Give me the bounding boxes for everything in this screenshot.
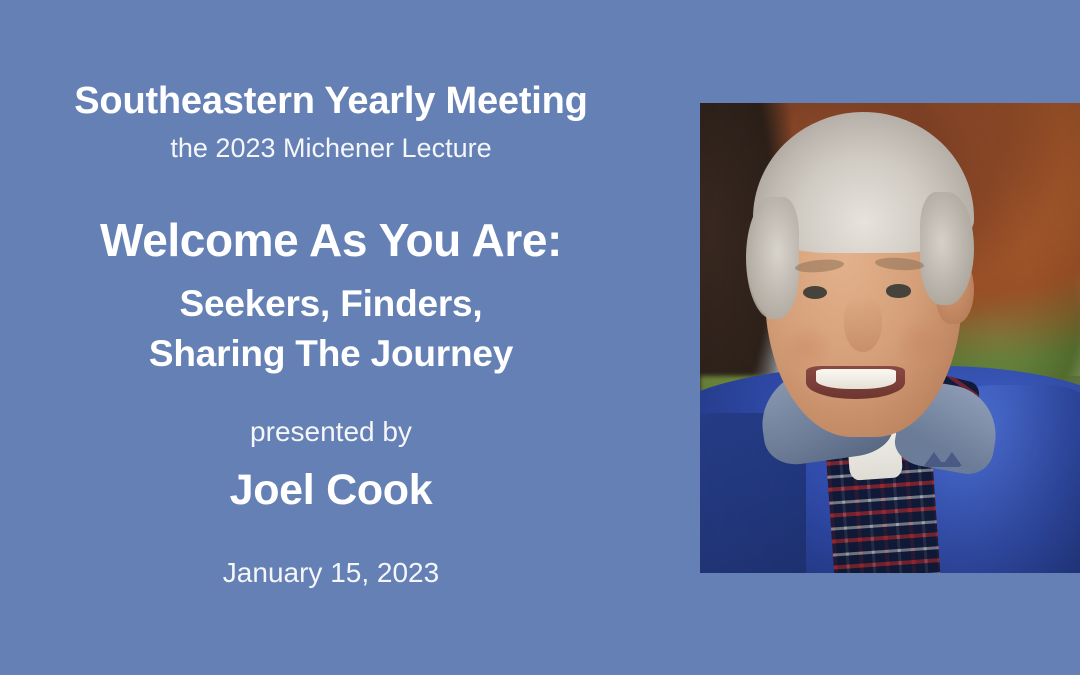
lecture-title-line-3: Sharing The Journey — [0, 329, 700, 379]
presenter-block: presented by Joel Cook — [0, 415, 700, 516]
organization-name: Southeastern Yearly Meeting — [0, 80, 700, 123]
text-column: Southeastern Yearly Meeting the 2023 Mic… — [0, 0, 700, 675]
lecture-title-main: Welcome As You Are: — [0, 213, 700, 267]
presenter-portrait — [700, 103, 1080, 573]
organization-block: Southeastern Yearly Meeting the 2023 Mic… — [0, 80, 700, 164]
date-block: January 15, 2023 — [0, 556, 700, 590]
cheek-right — [894, 319, 947, 366]
organization-subtitle: the 2023 Michener Lecture — [0, 132, 700, 164]
presenter-name: Joel Cook — [0, 465, 700, 517]
cheek-left — [780, 324, 833, 371]
lecture-title-slide: Southeastern Yearly Meeting the 2023 Mic… — [0, 0, 1080, 675]
portrait-canvas — [700, 103, 1080, 573]
eye-right — [886, 284, 911, 297]
lecture-title-block: Welcome As You Are: Seekers, Finders, Sh… — [0, 213, 700, 379]
lecture-date: January 15, 2023 — [0, 556, 700, 590]
lecture-title-line-2: Seekers, Finders, — [0, 279, 700, 329]
person — [700, 103, 1080, 573]
hair-right — [920, 192, 973, 305]
presented-by-label: presented by — [0, 415, 700, 449]
teeth — [816, 369, 896, 389]
hair-left — [746, 197, 799, 319]
rei-logo-icon — [920, 448, 966, 470]
